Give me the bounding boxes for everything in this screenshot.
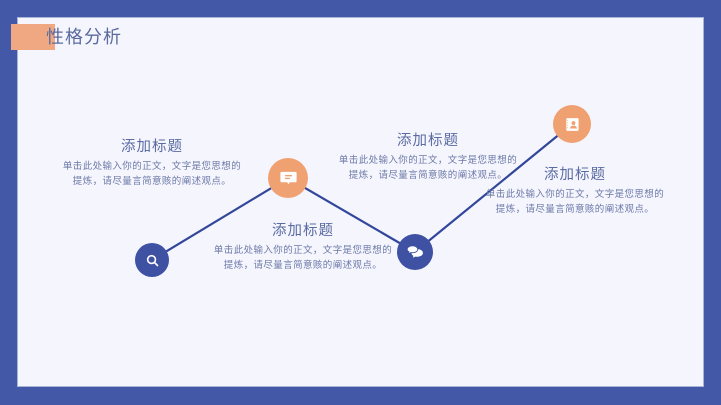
page-title: 性格分析 [46, 24, 122, 50]
message-bubble-icon [279, 169, 298, 188]
node-message[interactable] [268, 158, 308, 198]
block-body: 单击此处输入你的正文，文字是您思想的提炼，请尽量言简意赅的阐述观点。 [485, 188, 665, 219]
node-search[interactable] [135, 243, 169, 277]
node-chat[interactable] [397, 234, 433, 270]
block-title: 添加标题 [338, 132, 518, 151]
text-block-4: 添加标题 单击此处输入你的正文，文字是您思想的提炼，请尽量言简意赅的阐述观点。 [485, 166, 665, 219]
block-title: 添加标题 [62, 138, 242, 157]
block-body: 单击此处输入你的正文，文字是您思想的提炼，请尽量言简意赅的阐述观点。 [213, 244, 393, 275]
node-contact[interactable] [553, 105, 591, 143]
block-title: 添加标题 [485, 166, 665, 185]
chat-bubbles-icon [406, 243, 425, 262]
contact-card-icon [564, 116, 581, 133]
block-body: 单击此处输入你的正文，文字是您思想的提炼，请尽量言简意赅的阐述观点。 [62, 160, 242, 191]
text-block-1: 添加标题 单击此处输入你的正文，文字是您思想的提炼，请尽量言简意赅的阐述观点。 [62, 138, 242, 191]
slide-canvas: 性格分析 [0, 0, 721, 405]
block-title: 添加标题 [213, 222, 393, 241]
search-icon [145, 253, 160, 268]
text-block-2: 添加标题 单击此处输入你的正文，文字是您思想的提炼，请尽量言简意赅的阐述观点。 [213, 222, 393, 275]
